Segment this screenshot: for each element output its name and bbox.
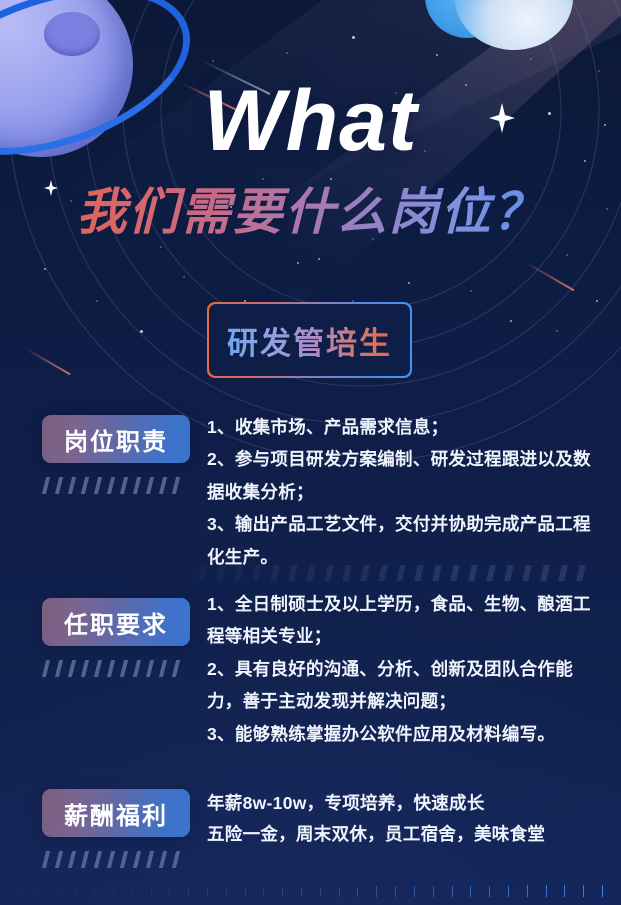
dash-mark — [68, 660, 76, 677]
bottom-tick — [132, 888, 133, 897]
section-line: 3、输出产品工艺文件，交付并协助完成产品工程化生产。 — [207, 508, 605, 573]
page-title-chinese: 我们需要什么岗位？ — [0, 182, 621, 242]
separator-slash — [576, 565, 585, 581]
star-dot — [212, 60, 214, 62]
star-dot — [556, 330, 558, 332]
dash-mark — [146, 851, 154, 868]
dash-mark — [172, 477, 180, 494]
bottom-tick — [151, 888, 152, 897]
star-dot — [436, 54, 438, 56]
page-title-english: What — [0, 78, 621, 164]
bottom-tick — [489, 886, 490, 897]
separator-slash — [270, 565, 279, 581]
section-label-benefits: 薪酬福利 — [42, 789, 190, 837]
bottom-tick — [527, 885, 528, 897]
star-dot — [470, 290, 472, 292]
dash-mark — [159, 477, 167, 494]
star-dot — [408, 282, 410, 284]
section-line: 五险一金，周末双休，员工宿舍，美味食堂 — [207, 819, 605, 850]
dash-mark — [146, 660, 154, 677]
bottom-tick — [395, 886, 396, 897]
section-body-benefits: 年薪8w-10w，专项培养，快速成长 五险一金，周末双休，员工宿舍，美味食堂 — [207, 788, 605, 849]
separator-slash — [504, 565, 513, 581]
star-dot — [183, 276, 185, 278]
dash-mark — [81, 660, 89, 677]
section-line: 3、能够熟练掌握办公软件应用及材料编写。 — [207, 718, 605, 750]
bottom-tick — [452, 886, 453, 897]
section-body-requirements: 1、全日制硕士及以上学历，食品、生物、酿酒工程等相关专业； 2、具有良好的沟通、… — [207, 588, 605, 750]
dash-mark — [42, 660, 50, 677]
star-dot — [160, 246, 162, 248]
dash-mark — [55, 851, 63, 868]
section-separator-1 — [200, 565, 584, 581]
separator-slash — [378, 565, 387, 581]
dash-mark — [68, 477, 76, 494]
bottom-tick — [470, 886, 471, 897]
dash-mark — [120, 851, 128, 868]
star-dot — [352, 36, 355, 39]
dash-mark — [42, 851, 50, 868]
separator-slash — [360, 565, 369, 581]
dash-mark — [133, 477, 141, 494]
dash-mark — [133, 660, 141, 677]
dash-mark — [81, 851, 89, 868]
dash-mark — [55, 477, 63, 494]
separator-slash — [540, 565, 549, 581]
section-dashes-responsibilities — [44, 477, 178, 494]
bottom-tick — [263, 887, 264, 897]
dash-mark — [120, 660, 128, 677]
star-dot — [530, 58, 532, 60]
dash-mark — [94, 477, 102, 494]
section-body-responsibilities: 1、收集市场、产品需求信息； 2、参与项目研发方案编制、研发过程跟进以及数据收集… — [207, 411, 605, 573]
separator-slash — [306, 565, 315, 581]
job-title-inner: 研发管培生 — [209, 304, 410, 376]
bottom-tick — [583, 885, 584, 897]
bottom-tick — [508, 886, 509, 897]
star-dot — [598, 70, 600, 72]
section-label-text: 任职要求 — [64, 605, 168, 640]
bottom-tick — [301, 887, 302, 897]
star-dot — [510, 320, 512, 322]
bottom-tick — [0, 889, 1, 897]
bottom-tick — [320, 887, 321, 897]
star-dot — [140, 330, 143, 333]
bottom-tick — [282, 887, 283, 897]
dash-mark — [133, 851, 141, 868]
separator-slash — [450, 565, 459, 581]
separator-slash — [198, 565, 207, 581]
dash-mark — [94, 851, 102, 868]
dash-mark — [81, 477, 89, 494]
bottom-tick-row — [0, 883, 621, 897]
star-dot — [286, 52, 288, 54]
section-line: 2、参与项目研发方案编制、研发过程跟进以及数据收集分析； — [207, 443, 605, 508]
bottom-tick — [226, 887, 227, 897]
planet-right-icon — [455, 0, 573, 50]
bottom-tick — [433, 886, 434, 897]
bottom-tick — [376, 886, 377, 897]
bottom-tick — [94, 888, 95, 897]
job-title-badge: 研发管培生 — [207, 302, 412, 378]
star-dot — [318, 258, 320, 260]
separator-slash — [216, 565, 225, 581]
job-title-border: 研发管培生 — [207, 302, 412, 378]
bottom-tick — [564, 885, 565, 897]
section-dashes-benefits — [44, 851, 178, 868]
bottom-tick — [602, 885, 603, 897]
dash-mark — [120, 477, 128, 494]
bottom-tick — [169, 888, 170, 897]
star-dot — [96, 300, 98, 302]
section-line: 1、收集市场、产品需求信息； — [207, 411, 605, 443]
dash-mark — [172, 851, 180, 868]
dash-mark — [159, 660, 167, 677]
star-dot — [44, 268, 46, 270]
bottom-tick — [245, 887, 246, 897]
bottom-tick — [38, 889, 39, 897]
section-dashes-requirements — [44, 660, 178, 677]
bottom-tick — [75, 888, 76, 897]
section-label-responsibilities: 岗位职责 — [42, 415, 190, 463]
separator-slash — [468, 565, 477, 581]
dash-mark — [146, 477, 154, 494]
separator-slash — [234, 565, 243, 581]
bottom-tick — [414, 886, 415, 897]
separator-slash — [288, 565, 297, 581]
section-line: 1、全日制硕士及以上学历，食品、生物、酿酒工程等相关专业； — [207, 588, 605, 653]
recruitment-poster: What 我们需要什么岗位？ 研发管培生 岗位职责 1、收集市场、产品需求信息；… — [0, 0, 621, 905]
separator-slash — [522, 565, 531, 581]
separator-slash — [486, 565, 495, 581]
bottom-tick — [207, 888, 208, 897]
separator-slash — [252, 565, 261, 581]
bottom-tick — [113, 888, 114, 897]
separator-slash — [558, 565, 567, 581]
section-line: 2、具有良好的沟通、分析、创新及团队合作能力，善于主动发现并解决问题； — [207, 653, 605, 718]
bottom-tick — [56, 889, 57, 897]
bottom-tick — [546, 885, 547, 897]
shooting-star-right-icon — [523, 261, 574, 292]
dash-mark — [159, 851, 167, 868]
job-title-text: 研发管培生 — [227, 318, 392, 363]
dash-mark — [107, 851, 115, 868]
separator-slash — [432, 565, 441, 581]
separator-slash — [324, 565, 333, 581]
dash-mark — [172, 660, 180, 677]
separator-slash — [396, 565, 405, 581]
bottom-tick — [339, 887, 340, 897]
shooting-star-left-icon — [23, 347, 71, 376]
star-dot — [566, 254, 568, 256]
section-line: 年薪8w-10w，专项培养，快速成长 — [207, 788, 605, 819]
section-label-text: 薪酬福利 — [64, 796, 168, 831]
star-dot — [297, 262, 299, 264]
section-label-text: 岗位职责 — [64, 422, 168, 457]
dash-mark — [107, 477, 115, 494]
dash-mark — [107, 660, 115, 677]
dash-mark — [68, 851, 76, 868]
dash-mark — [42, 477, 50, 494]
dash-mark — [55, 660, 63, 677]
separator-slash — [342, 565, 351, 581]
separator-slash — [414, 565, 423, 581]
bottom-tick — [19, 889, 20, 897]
star-dot — [330, 178, 332, 180]
bottom-tick — [357, 887, 358, 897]
dash-mark — [94, 660, 102, 677]
section-label-requirements: 任职要求 — [42, 598, 190, 646]
star-dot — [596, 300, 598, 302]
star-dot — [262, 178, 264, 180]
bottom-tick — [188, 888, 189, 897]
